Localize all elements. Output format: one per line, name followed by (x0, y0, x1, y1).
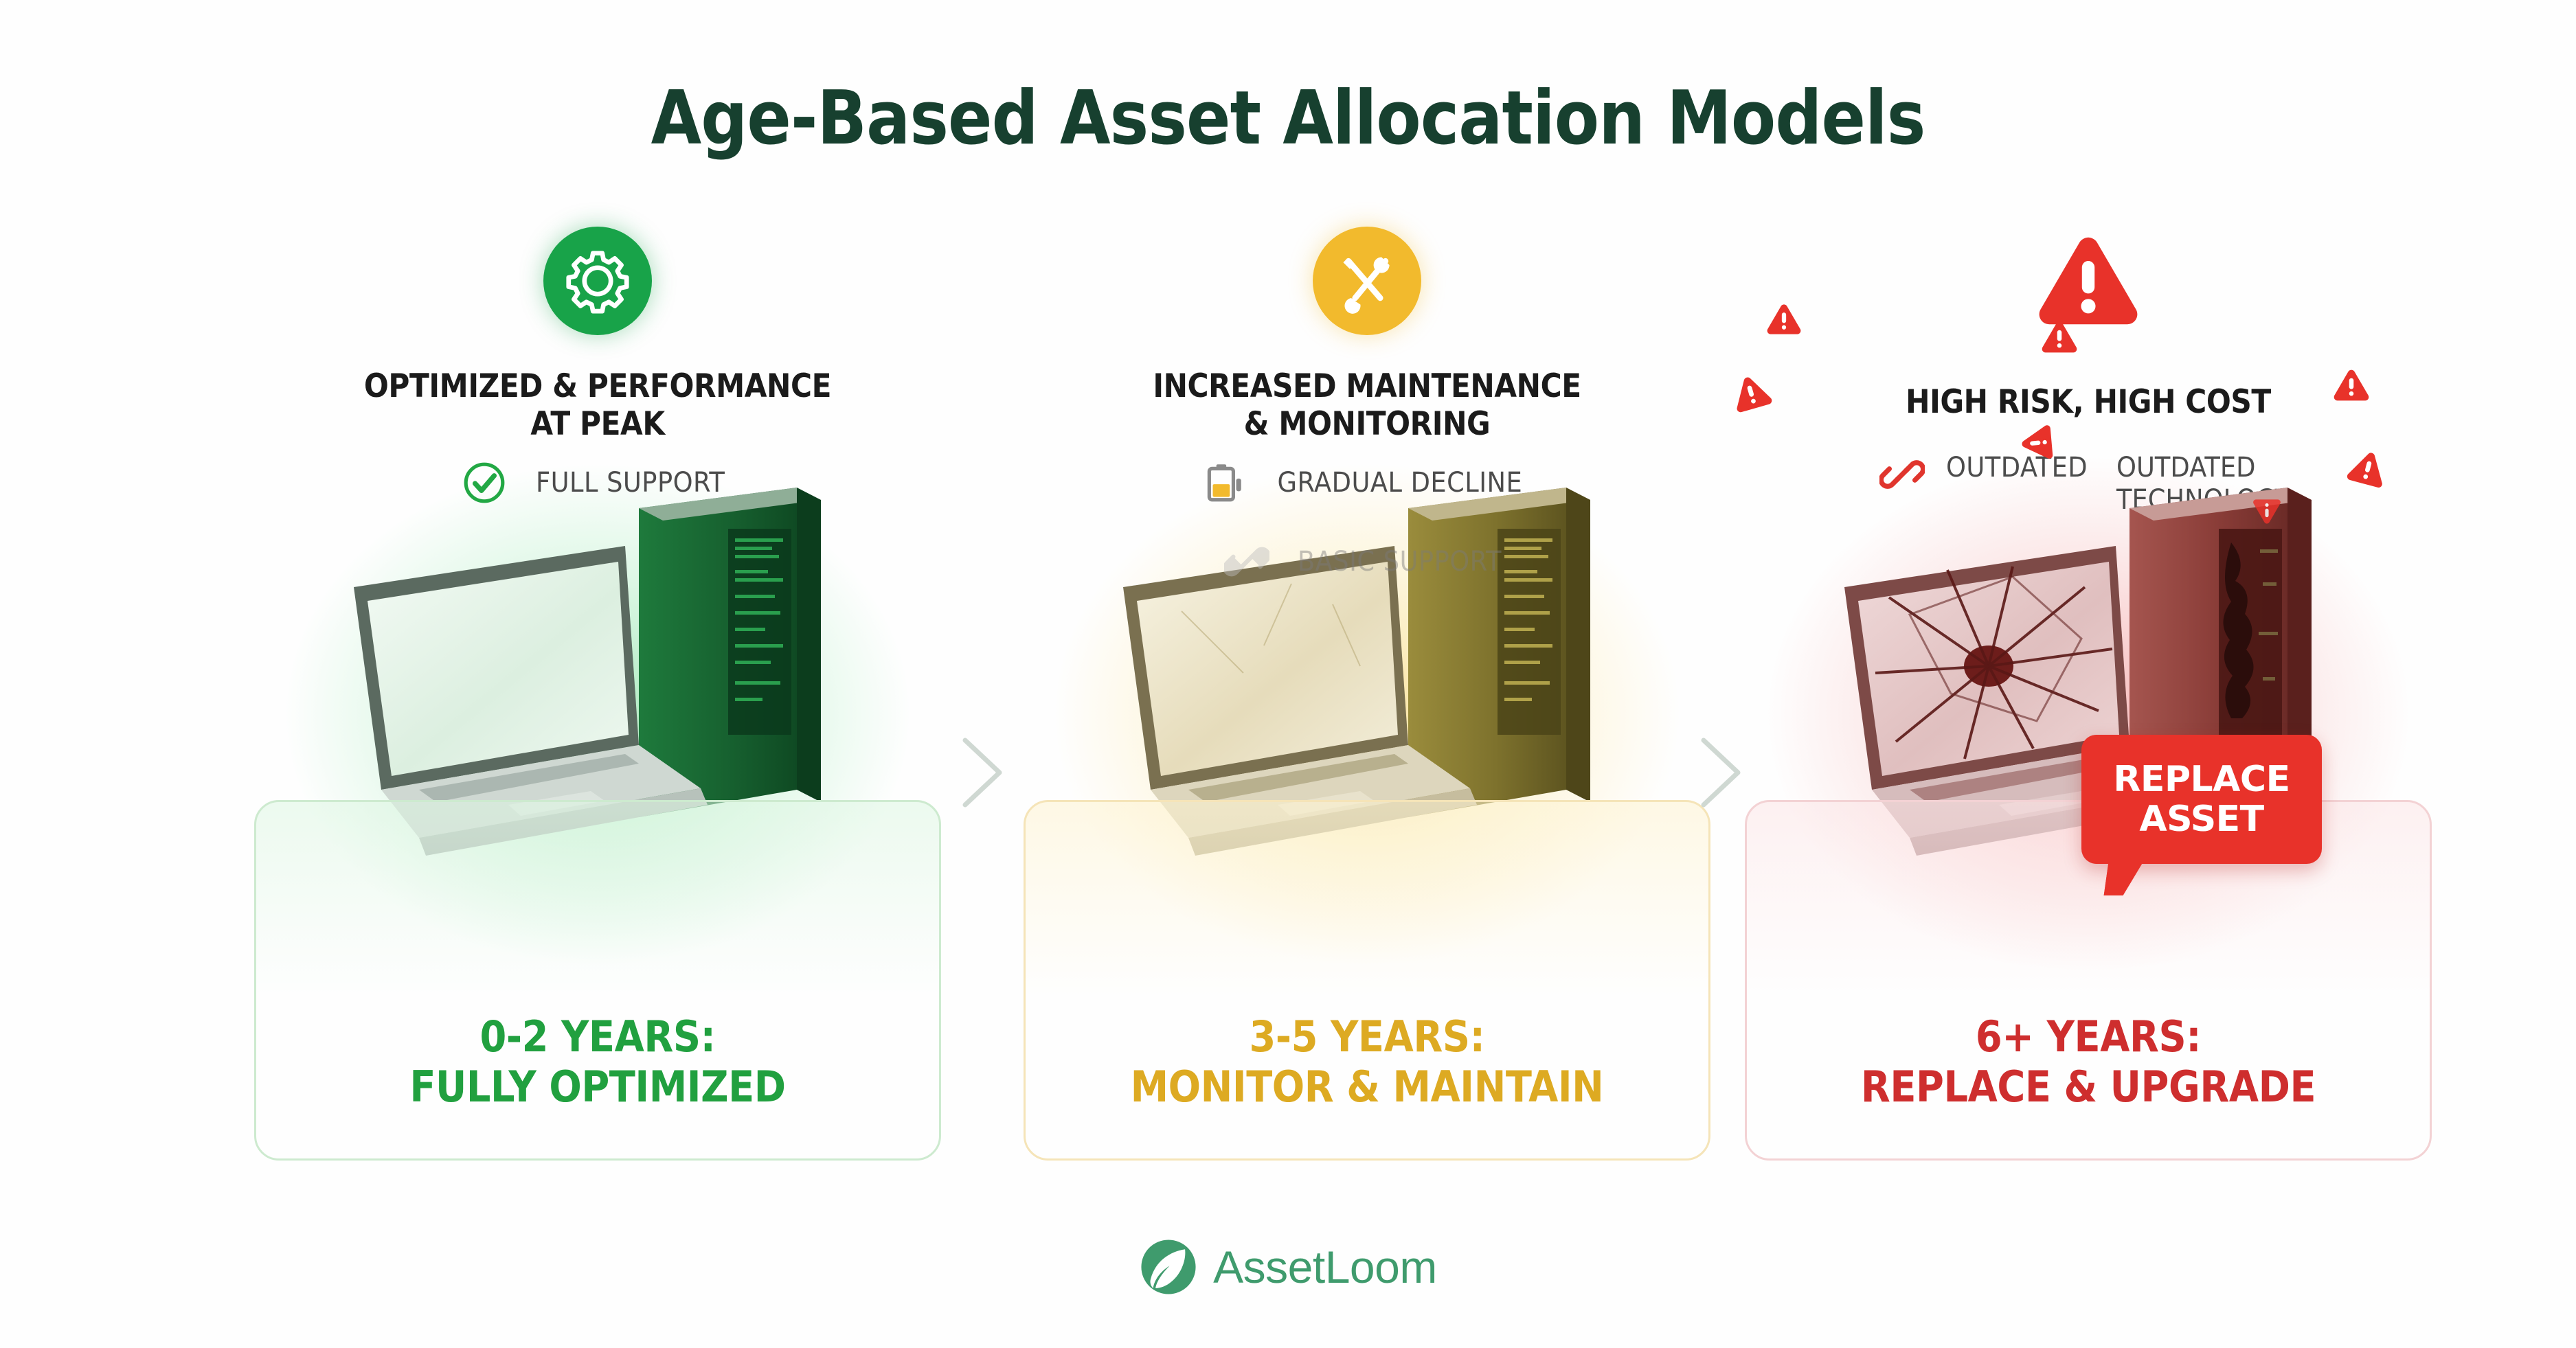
warning-triangle-icon (2018, 423, 2056, 463)
stage-headline: HIGH RISK, HIGH COST (1748, 383, 2428, 421)
chevron-right-icon (958, 735, 1006, 810)
stage-card-3-5-years[interactable]: INCREASED MAINTENANCE & MONITORING GRADU… (989, 227, 1745, 1188)
chevron-right-icon (1697, 735, 1745, 810)
warning-triangle-icon (2252, 498, 2282, 525)
warning-triangle-icon (1765, 302, 1803, 336)
stage-headline-line-2: & MONITORING (1027, 405, 1707, 443)
replace-asset-callout[interactable]: REPLACE ASSET (2081, 735, 2322, 864)
page-title: Age-Based Asset Allocation Models (155, 76, 2421, 161)
stage-card-0-2-years[interactable]: OPTIMIZED & PERFORMANCE AT PEAK FULL SUP… (220, 227, 975, 1188)
stage-card-text: 0-2 YEARS: FULLY OPTIMIZED (291, 1012, 905, 1112)
callout-line-2: ASSET (2113, 799, 2290, 839)
stage-card-line-1: 0-2 YEARS: (291, 1012, 905, 1062)
badge-wrap (220, 227, 975, 335)
badge-wrap (989, 227, 1745, 335)
badge-wrap (1710, 227, 2466, 335)
stage-card-text: 3-5 YEARS: MONITOR & MAINTAIN (1060, 1012, 1675, 1112)
stages-container: OPTIMIZED & PERFORMANCE AT PEAK FULL SUP… (0, 227, 2576, 1188)
stage-card-line-2: FULLY OPTIMIZED (291, 1062, 905, 1112)
callout-line-1: REPLACE (2113, 759, 2290, 799)
stage-card-line-2: REPLACE & UPGRADE (1781, 1062, 2396, 1112)
stage-headline: OPTIMIZED & PERFORMANCE AT PEAK (258, 367, 938, 444)
stage-year-card: 3-5 YEARS: MONITOR & MAINTAIN (1024, 800, 1710, 1161)
broken-link-icon (1224, 539, 1269, 584)
gear-icon (543, 227, 652, 335)
replace-asset-callout-text: REPLACE ASSET (2113, 759, 2290, 839)
infographic-canvas: Age-Based Asset Allocation Models OPTIMI… (0, 0, 2576, 1348)
stage-year-card: 0-2 YEARS: FULLY OPTIMIZED (254, 800, 941, 1161)
stage-card-text: 6+ YEARS: REPLACE & UPGRADE (1781, 1012, 2396, 1112)
wrench-screwdriver-icon (1313, 227, 1421, 335)
stage-ghost-status: BASIC SUPPORT (989, 539, 1745, 584)
stage-headline-line-1: INCREASED MAINTENANCE (1027, 367, 1707, 405)
brand-footer: AssetLoom (0, 1237, 2576, 1296)
stage-card-line-1: 3-5 YEARS: (1060, 1012, 1675, 1062)
stage-headline-line-1: OPTIMIZED & PERFORMANCE (258, 367, 938, 405)
warning-triangle-icon (2040, 319, 2079, 355)
warning-triangle-icon (2332, 367, 2371, 403)
stage-headline-line-1: HIGH RISK, HIGH COST (1748, 383, 2428, 421)
stage-card-6-plus-years[interactable]: HIGH RISK, HIGH COST OUTDATED OUTDATED T… (1710, 227, 2466, 1188)
stage-headline: INCREASED MAINTENANCE & MONITORING (1027, 367, 1707, 444)
stage-headline-line-2: AT PEAK (258, 405, 938, 443)
assetloom-leaf-logo-icon (1139, 1237, 1198, 1296)
stage-card-line-1: 6+ YEARS: (1781, 1012, 2396, 1062)
brand-name: AssetLoom (1213, 1241, 1437, 1293)
stage-ghost-status-label: BASIC SUPPORT (1297, 546, 1501, 578)
stage-card-line-2: MONITOR & MAINTAIN (1060, 1062, 1675, 1112)
